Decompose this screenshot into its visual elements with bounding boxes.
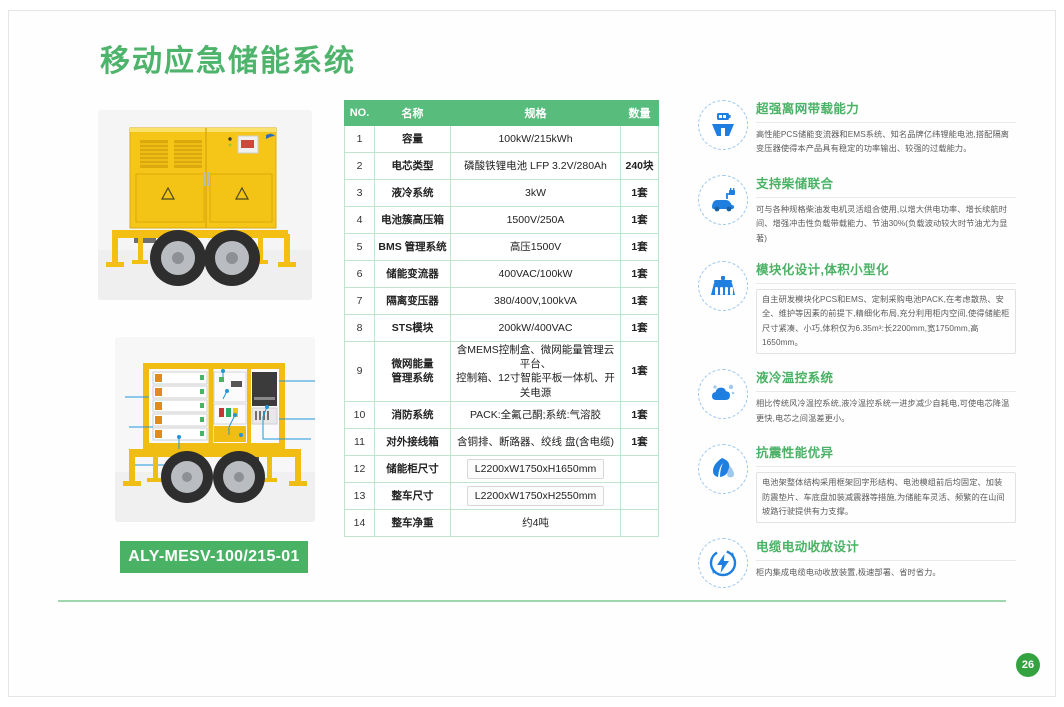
table-row: 6储能变流器400VAC/100kW1套 xyxy=(345,261,659,288)
cell-qty: 1套 xyxy=(621,315,659,342)
cell-qty xyxy=(621,126,659,153)
cell-qty: 240块 xyxy=(621,153,659,180)
feature-body: 高性能PCS储能变流器和EMS系统、知名品牌亿纬锂能电池,搭配隔离变压器使得本产… xyxy=(756,128,1016,157)
cell-spec: 高压1500V xyxy=(451,234,621,261)
feature-item-liquid-cooling: 液冷温控系统 相比传统风冷温控系统,液冷温控系统一进步减少自耗电,可使电芯降温更… xyxy=(698,367,1016,429)
table-row: 7隔离变压器380/400V,100kVA1套 xyxy=(345,288,659,315)
cell-spec: L2200xW1750xH2550mm xyxy=(451,482,621,509)
table-row: 13整车尺寸L2200xW1750xH2550mm xyxy=(345,482,659,509)
electric-car-charging-icon xyxy=(698,175,748,225)
cell-no: 12 xyxy=(345,455,375,482)
feature-item-offgrid-capacity: 超强离网带载能力 高性能PCS储能变流器和EMS系统、知名品牌亿纬锂能电池,搭配… xyxy=(698,98,1016,160)
table-row: 8STS模块200kW/400VAC1套 xyxy=(345,315,659,342)
cell-spec: 约4吨 xyxy=(451,509,621,536)
cell-name: 电池簇高压箱 xyxy=(375,207,451,234)
cell-no: 5 xyxy=(345,234,375,261)
feature-item-modular-design: 模块化设计,体积小型化 自主研发模块化PCS和EMS、定制采购电池PACK,在考… xyxy=(698,259,1016,354)
cell-qty xyxy=(621,455,659,482)
cell-name: 容量 xyxy=(375,126,451,153)
feature-body: 自主研发模块化PCS和EMS、定制采购电池PACK,在考虑散热、安全、维护等因素… xyxy=(756,289,1016,354)
cell-qty: 1套 xyxy=(621,207,659,234)
cell-no: 6 xyxy=(345,261,375,288)
cell-no: 9 xyxy=(345,342,375,402)
feature-title: 液冷温控系统 xyxy=(756,367,1016,392)
cell-spec: 200kW/400VAC xyxy=(451,315,621,342)
specification-table: NO. 名称 规格 数量 1容量100kW/215kWh2电芯类型磷酸铁锂电池 … xyxy=(344,100,659,537)
cell-no: 10 xyxy=(345,401,375,428)
cell-no: 13 xyxy=(345,482,375,509)
product-image-open xyxy=(115,337,315,522)
modular-factory-icon xyxy=(698,261,748,311)
table-row: 11对外接线箱含铜排、断路器、绞线 盘(含电缆)1套 xyxy=(345,428,659,455)
feature-title: 超强离网带载能力 xyxy=(756,98,1016,123)
cell-no: 4 xyxy=(345,207,375,234)
cell-name: 消防系统 xyxy=(375,401,451,428)
cell-name: 储能柜尺寸 xyxy=(375,455,451,482)
slide-canvas: 移动应急储能系统 xyxy=(0,0,1064,707)
page-title: 移动应急储能系统 xyxy=(100,36,356,80)
cell-spec: 含铜排、断路器、绞线 盘(含电缆) xyxy=(451,428,621,455)
cell-spec: 磷酸铁锂电池 LFP 3.2V/280Ah xyxy=(451,153,621,180)
table-row: 2电芯类型磷酸铁锂电池 LFP 3.2V/280Ah240块 xyxy=(345,153,659,180)
column-header-no: NO. xyxy=(345,101,375,126)
product-image-closed xyxy=(98,110,312,300)
feature-title: 抗震性能优异 xyxy=(756,442,1016,467)
page-top-strip xyxy=(0,0,1064,8)
footer-divider xyxy=(58,600,1006,602)
column-header-qty: 数量 xyxy=(621,101,659,126)
feature-body: 可与各种规格柴油发电机灵活组合使用,以增大供电功率、增长续航时间、增强冲击性负载… xyxy=(756,203,1016,246)
feature-list: 超强离网带载能力 高性能PCS储能变流器和EMS系统、知名品牌亿纬锂能电池,搭配… xyxy=(698,98,1016,611)
cell-spec: L2200xW1750xH1650mm xyxy=(451,455,621,482)
cell-name: 隔离变压器 xyxy=(375,288,451,315)
cell-spec: 380/400V,100kVA xyxy=(451,288,621,315)
feature-title: 模块化设计,体积小型化 xyxy=(756,259,1016,284)
battery-panel-icon xyxy=(698,100,748,150)
feature-body: 电池架整体结构采用框架回字形结构、电池模组前后均固定、加装防震垫片、车底盘加装减… xyxy=(756,472,1016,523)
cell-qty: 1套 xyxy=(621,428,659,455)
cell-spec: 1500V/250A xyxy=(451,207,621,234)
table-row: 1容量100kW/215kWh xyxy=(345,126,659,153)
column-header-name: 名称 xyxy=(375,101,451,126)
table-row: 10消防系统PACK:全氟己酮;系统:气溶胶1套 xyxy=(345,401,659,428)
cell-qty: 1套 xyxy=(621,401,659,428)
cell-spec: 含MEMS控制盒、微网能量管理云平台、控制箱、12寸智能平板一体机、开关电源 xyxy=(451,342,621,402)
cell-no: 14 xyxy=(345,509,375,536)
table-row: 4电池簇高压箱1500V/250A1套 xyxy=(345,207,659,234)
feature-item-shock-resistance: 抗震性能优异 电池架整体结构采用框架回字形结构、电池模组前后均固定、加装防震垫片… xyxy=(698,442,1016,523)
cell-name: 液冷系统 xyxy=(375,180,451,207)
feature-item-cable-reel: 电缆电动收放设计 柜内集成电缆电动收放装置,极速部署、省时省力。 xyxy=(698,536,1016,598)
cloud-cooling-icon xyxy=(698,369,748,419)
feature-body: 柜内集成电缆电动收放装置,极速部署、省时省力。 xyxy=(756,566,1016,580)
column-header-spec: 规格 xyxy=(451,101,621,126)
cell-qty xyxy=(621,482,659,509)
cell-qty: 1套 xyxy=(621,234,659,261)
cell-no: 1 xyxy=(345,126,375,153)
cell-spec: 100kW/215kWh xyxy=(451,126,621,153)
cell-spec: 3kW xyxy=(451,180,621,207)
cell-spec: PACK:全氟己酮;系统:气溶胶 xyxy=(451,401,621,428)
feature-item-diesel-storage-hybrid: 支持柴储联合 可与各种规格柴油发电机灵活组合使用,以增大供电功率、增长续航时间、… xyxy=(698,173,1016,246)
cell-qty: 1套 xyxy=(621,180,659,207)
cell-name: 对外接线箱 xyxy=(375,428,451,455)
feature-title: 电缆电动收放设计 xyxy=(756,536,1016,561)
table-row: 3液冷系统3kW1套 xyxy=(345,180,659,207)
table-row: 9微网能量管理系统含MEMS控制盒、微网能量管理云平台、控制箱、12寸智能平板一… xyxy=(345,342,659,402)
cell-no: 8 xyxy=(345,315,375,342)
cell-no: 7 xyxy=(345,288,375,315)
page-number-badge: 26 xyxy=(1016,653,1040,677)
cell-no: 11 xyxy=(345,428,375,455)
cell-no: 3 xyxy=(345,180,375,207)
cell-name: STS模块 xyxy=(375,315,451,342)
table-row: 12储能柜尺寸L2200xW1750xH1650mm xyxy=(345,455,659,482)
cell-name: 整车尺寸 xyxy=(375,482,451,509)
lightning-recycle-icon xyxy=(698,538,748,588)
table-header-row: NO. 名称 规格 数量 xyxy=(345,101,659,126)
cell-qty: 1套 xyxy=(621,288,659,315)
cell-qty: 1套 xyxy=(621,342,659,402)
model-number-badge: ALY-MESV-100/215-01 xyxy=(120,541,308,573)
feature-title: 支持柴储联合 xyxy=(756,173,1016,198)
table-row: 14整车净重约4吨 xyxy=(345,509,659,536)
cell-no: 2 xyxy=(345,153,375,180)
cell-name: 整车净重 xyxy=(375,509,451,536)
cell-name: 微网能量管理系统 xyxy=(375,342,451,402)
feature-body: 相比传统风冷温控系统,液冷温控系统一进步减少自耗电,可使电芯降温更快,电芯之间温… xyxy=(756,397,1016,426)
cell-name: BMS 管理系统 xyxy=(375,234,451,261)
cell-qty xyxy=(621,509,659,536)
cell-spec: 400VAC/100kW xyxy=(451,261,621,288)
cell-qty: 1套 xyxy=(621,261,659,288)
leaf-droplet-icon xyxy=(698,444,748,494)
cell-name: 电芯类型 xyxy=(375,153,451,180)
table-row: 5BMS 管理系统高压1500V1套 xyxy=(345,234,659,261)
cell-name: 储能变流器 xyxy=(375,261,451,288)
